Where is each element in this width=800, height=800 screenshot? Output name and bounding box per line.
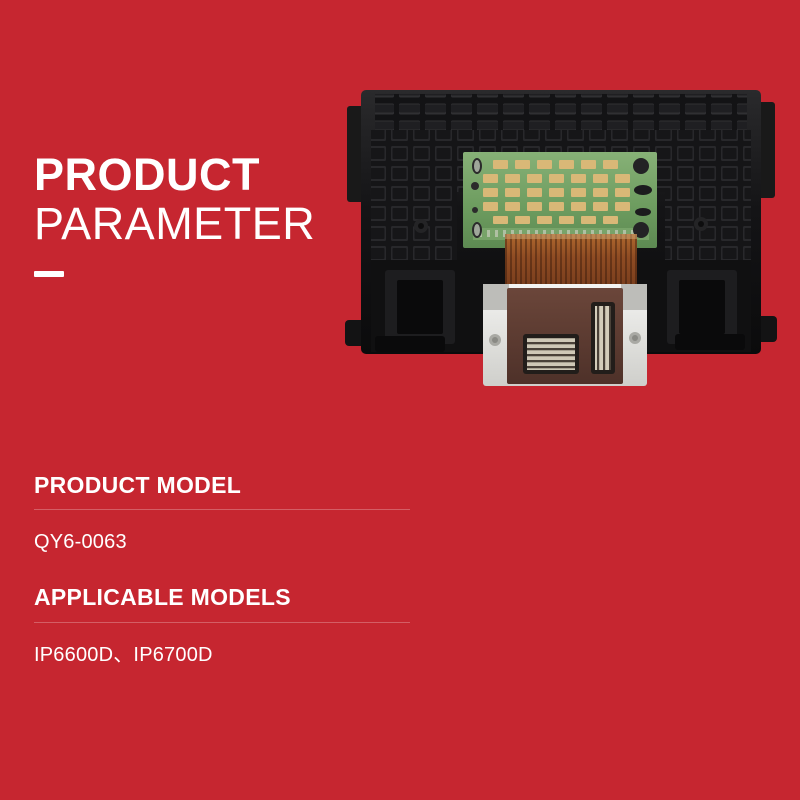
spec-label-applicable-models: APPLICABLE MODELS	[34, 582, 790, 612]
spec-divider	[34, 509, 410, 510]
spec-cell-applicable-models: APPLICABLE MODELS IP6600D、IP6700D	[0, 582, 800, 667]
title-underline-dash	[34, 271, 64, 277]
circuit-board	[463, 152, 657, 248]
spec-divider	[34, 622, 410, 623]
spec-value-applicable-models: IP6600D、IP6700D	[34, 642, 790, 668]
nozzle-assembly	[483, 284, 647, 386]
page-title-block: PRODUCT PARAMETER	[34, 152, 374, 277]
spec-row: APPLICABLE MODELS IP6600D、IP6700D	[0, 582, 800, 667]
specification-grid: PRODUCT MODEL QY6-0063 APPLICABLE BRAND …	[0, 470, 800, 668]
page-title-primary: PRODUCT	[34, 152, 374, 198]
spec-value-product-model: QY6-0063	[34, 529, 410, 555]
product-image-printhead	[345, 84, 777, 392]
page-title-secondary: PARAMETER	[34, 198, 374, 249]
product-parameter-page: PRODUCT PARAMETER	[0, 0, 800, 800]
spec-cell-product-model: PRODUCT MODEL QY6-0063	[0, 470, 420, 555]
spec-cell-applicable-brand: APPLICABLE BRAND Canon	[386, 470, 800, 555]
spec-row: PRODUCT MODEL QY6-0063 APPLICABLE BRAND …	[0, 470, 800, 555]
spec-label-product-model: PRODUCT MODEL	[34, 470, 410, 500]
